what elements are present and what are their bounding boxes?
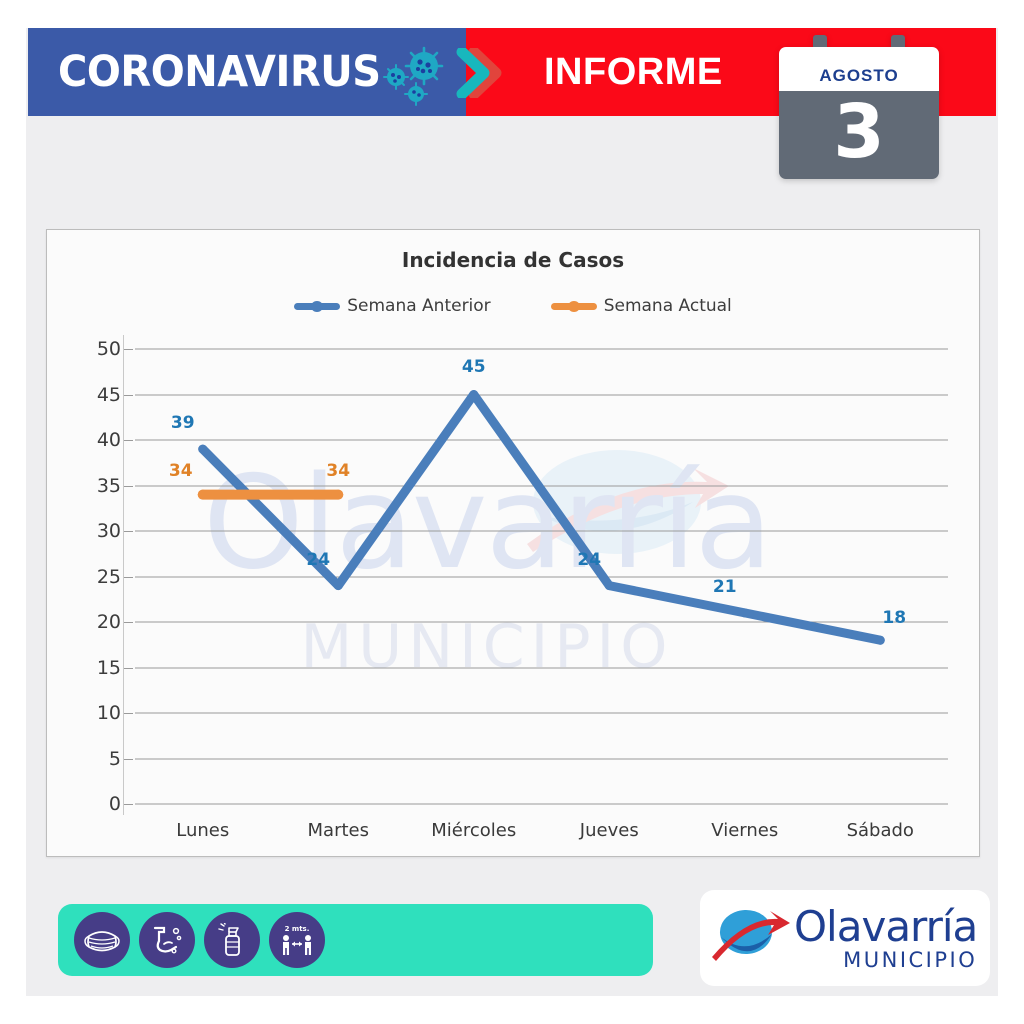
x-tick-label: Jueves bbox=[580, 820, 639, 841]
y-axis-line bbox=[123, 335, 124, 815]
y-tick bbox=[124, 395, 133, 396]
y-tick-label: 35 bbox=[97, 475, 121, 497]
hand-washing-icon[interactable] bbox=[139, 912, 195, 968]
x-tick-label: Miércoles bbox=[431, 820, 516, 841]
y-tick bbox=[124, 668, 133, 669]
svg-text:2 mts.: 2 mts. bbox=[285, 925, 310, 933]
legend-label-semana-actual: Semana Actual bbox=[604, 296, 732, 316]
y-tick-label: 45 bbox=[97, 384, 121, 406]
data-label: 24 bbox=[577, 550, 601, 570]
poster-canvas: CORONAVIRUS bbox=[0, 0, 1024, 1024]
calendar-icon: AGOSTO 3 bbox=[779, 35, 939, 186]
face-mask-icon[interactable] bbox=[74, 912, 130, 968]
double-chevron-icon bbox=[452, 48, 522, 98]
y-tick bbox=[124, 349, 133, 350]
y-tick-label: 25 bbox=[97, 566, 121, 588]
chart-title: Incidencia de Casos bbox=[47, 248, 979, 272]
plot-area: 05101520253035404550 3924452421183434 Lu… bbox=[135, 349, 948, 804]
data-label: 45 bbox=[462, 357, 486, 377]
data-label: 21 bbox=[713, 577, 737, 597]
logo-subtitle: MUNICIPIO bbox=[794, 950, 977, 971]
data-label: 18 bbox=[882, 608, 906, 628]
calendar-header: AGOSTO bbox=[779, 47, 939, 91]
data-point bbox=[469, 390, 478, 399]
data-label: 34 bbox=[169, 461, 193, 481]
data-point bbox=[198, 490, 208, 500]
olavarria-swoosh-logo-icon bbox=[712, 907, 790, 969]
y-tick bbox=[124, 622, 133, 623]
data-label: 24 bbox=[306, 550, 330, 570]
y-tick-label: 50 bbox=[97, 338, 121, 360]
poster-footer: 2 mts. Olavarría MUNICIPIO bbox=[46, 896, 978, 986]
y-tick-label: 15 bbox=[97, 657, 121, 679]
social-distance-icon[interactable]: 2 mts. bbox=[269, 912, 325, 968]
y-tick-label: 40 bbox=[97, 429, 121, 451]
y-tick bbox=[124, 804, 133, 805]
data-label: 34 bbox=[326, 461, 350, 481]
calendar-day: 3 bbox=[833, 95, 885, 169]
data-label: 39 bbox=[171, 413, 195, 433]
y-tick bbox=[124, 486, 133, 487]
legend-item-semana-actual[interactable]: Semana Actual bbox=[551, 296, 732, 316]
legend-swatch-blue bbox=[294, 303, 340, 310]
data-point bbox=[333, 490, 343, 500]
olavarria-logo[interactable]: Olavarría MUNICIPIO bbox=[700, 890, 990, 986]
y-tick bbox=[124, 440, 133, 441]
chart-legend: Semana Anterior Semana Actual bbox=[47, 296, 979, 316]
header-brand-band: CORONAVIRUS bbox=[28, 28, 466, 116]
data-point bbox=[198, 445, 207, 454]
y-tick-label: 20 bbox=[97, 611, 121, 633]
calendar-month: AGOSTO bbox=[819, 66, 898, 91]
y-tick-label: 0 bbox=[109, 793, 121, 815]
x-tick-label: Sábado bbox=[847, 820, 914, 841]
x-tick-label: Martes bbox=[308, 820, 369, 841]
y-tick-label: 5 bbox=[109, 748, 121, 770]
y-tick-label: 30 bbox=[97, 520, 121, 542]
chart-series-lines bbox=[135, 349, 948, 804]
prevention-measures-bar: 2 mts. bbox=[58, 904, 653, 976]
y-tick bbox=[124, 713, 133, 714]
series-line bbox=[203, 395, 881, 641]
y-tick bbox=[124, 531, 133, 532]
x-axis-labels: LunesMartesMiércolesJuevesViernesSábado bbox=[135, 804, 948, 854]
x-tick-label: Viernes bbox=[711, 820, 778, 841]
chart-panel: Incidencia de Casos Semana Anterior Sema… bbox=[46, 229, 980, 857]
data-point bbox=[605, 581, 614, 590]
data-point bbox=[740, 608, 749, 617]
y-tick-label: 10 bbox=[97, 702, 121, 724]
calendar-body: 3 bbox=[779, 91, 939, 179]
sanitizer-spray-icon[interactable] bbox=[204, 912, 260, 968]
data-point bbox=[334, 581, 343, 590]
legend-item-semana-anterior[interactable]: Semana Anterior bbox=[294, 296, 490, 316]
y-tick bbox=[124, 759, 133, 760]
report-label: INFORME bbox=[544, 51, 723, 94]
y-tick bbox=[124, 577, 133, 578]
page-title: CORONAVIRUS bbox=[58, 47, 381, 97]
legend-swatch-orange bbox=[551, 303, 597, 310]
x-tick-label: Lunes bbox=[176, 820, 229, 841]
legend-label-semana-anterior: Semana Anterior bbox=[347, 296, 490, 316]
data-point bbox=[876, 636, 885, 645]
logo-name: Olavarría bbox=[794, 906, 977, 948]
